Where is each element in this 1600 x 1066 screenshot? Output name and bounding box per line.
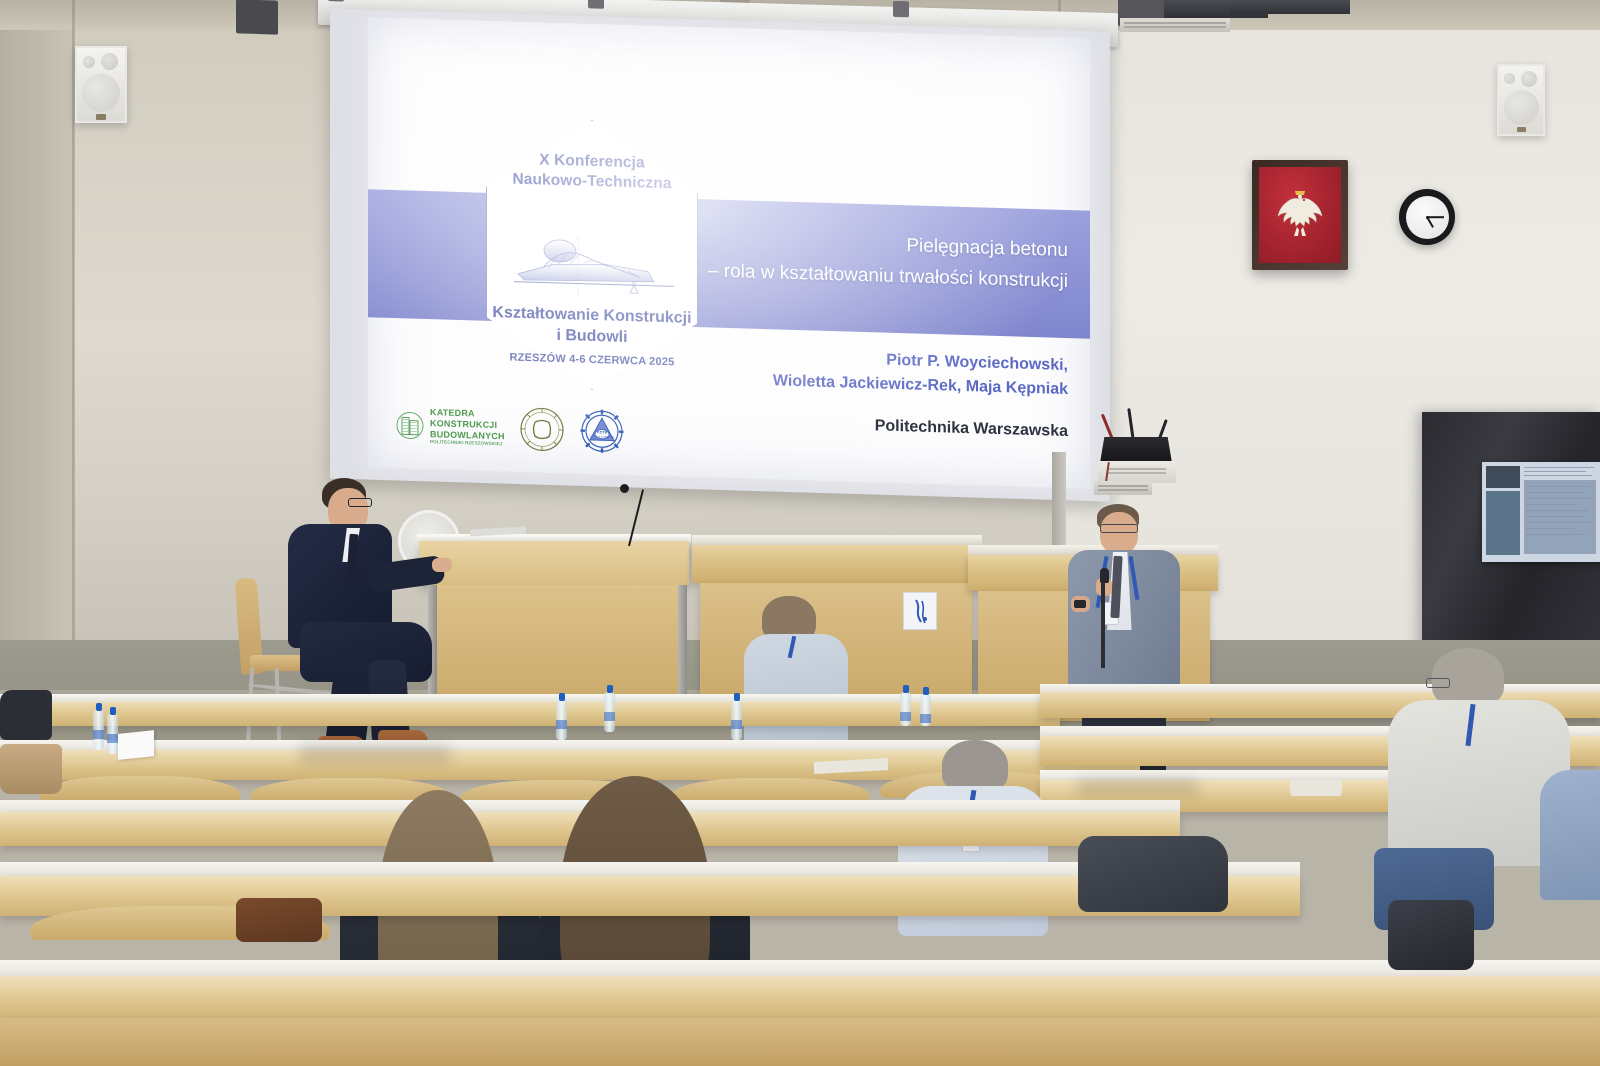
- side-counter-front: [692, 545, 982, 583]
- polish-eagle-icon: [1273, 185, 1327, 245]
- bench-desk-row-5: [0, 976, 1600, 1022]
- speaker-port-icon: [96, 114, 106, 120]
- katedra-line1: KATEDRA: [430, 408, 475, 419]
- projector-ceiling-mount: [236, 0, 278, 35]
- table-name-card: [118, 730, 154, 760]
- moderator-glasses-icon: [348, 498, 372, 507]
- microphone-handheld-icon: [1100, 568, 1109, 583]
- sponsor-logo-row: KATEDRA KONSTRUKCJI BUDOWLANYCH POLITECH…: [396, 392, 666, 466]
- emblem-background: [1259, 167, 1341, 263]
- speaker-woofer-icon: [1504, 90, 1539, 125]
- poster-text-line: [1524, 475, 1592, 476]
- accessibility-icon: [908, 597, 932, 625]
- attendee-center-hair: [942, 740, 1008, 792]
- water-bottle-4: [604, 692, 615, 732]
- presenter-glasses-icon: [1100, 524, 1138, 533]
- poster-text-line: [1526, 516, 1584, 517]
- slide-presentation-title: Pielęgnacja betonu – rola w kształtowani…: [638, 223, 1068, 297]
- microphone-head-icon: [620, 484, 629, 493]
- speaker-tweeter-icon: [83, 56, 95, 68]
- poster-text-line: [1524, 467, 1594, 468]
- microphone-cable: [1101, 582, 1105, 668]
- wall-speaker-left: [75, 46, 127, 123]
- presentation-clicker-icon: [1074, 600, 1086, 608]
- katedra-konstrukcji-budowlanych-logo: KATEDRA KONSTRUKCJI BUDOWLANYCH POLITECH…: [396, 406, 505, 446]
- bench-desk-row-6: [0, 1018, 1600, 1066]
- speaker-midrange-icon: [101, 53, 118, 70]
- presenter-head: [1100, 512, 1138, 554]
- water-bottle-2: [107, 714, 118, 754]
- wall-speaker-right: [1497, 64, 1545, 136]
- backpack-right: [1388, 900, 1474, 970]
- attendee-right-glasses-icon: [1426, 678, 1450, 688]
- poster-text-line: [1526, 486, 1590, 487]
- poster-text-line: [1526, 504, 1578, 505]
- water-bottle-6: [900, 692, 911, 726]
- poster-text-line: [1524, 471, 1586, 472]
- poster-text-line: [1526, 522, 1592, 523]
- poster-text-line: [1526, 498, 1592, 499]
- dark-backpack: [0, 690, 52, 740]
- moderator-hand: [432, 558, 452, 572]
- paper-on-desk: [1290, 780, 1342, 796]
- moderator-shadow: [300, 744, 450, 764]
- poster-text-line: [1526, 492, 1584, 493]
- speaker-port-icon: [1517, 127, 1526, 132]
- clock-face: [1406, 196, 1449, 239]
- screen-bracket-center: [588, 0, 604, 9]
- poster-text-line: [1526, 528, 1574, 529]
- router-wall-bracket: [1098, 461, 1176, 483]
- attendee-right-hair: [1432, 648, 1504, 706]
- clock-minute-hand: [1427, 216, 1444, 218]
- katedra-line4: POLITECHNIKI RZESZOWSKIEJ: [430, 439, 505, 447]
- leather-bag-foreground: [236, 898, 322, 942]
- scientific-poster: [1482, 462, 1600, 562]
- polish-eagle-emblem-frame: [1252, 160, 1348, 270]
- attendee-right-blue-shirt: [1540, 770, 1600, 900]
- pzitb-label: PZITB: [597, 430, 608, 434]
- ceiling-duct-2: [1230, 0, 1350, 14]
- slide-affiliation: Politechnika Warszawska: [638, 410, 1068, 441]
- water-bottle-3: [556, 700, 567, 740]
- pzitb-gear-logo: PZITB ODDZIAŁ RZESZÓW: [579, 408, 625, 455]
- water-bottle-1: [93, 710, 104, 750]
- poster-image-1: [1486, 466, 1520, 488]
- building-icon: [396, 410, 424, 441]
- speaker-midrange-icon: [1521, 71, 1537, 87]
- clock-center-dot: [1426, 216, 1429, 219]
- wifi-router: [1100, 437, 1172, 463]
- presentation-slide: X Konferencja Naukowo-Techniczna Kształt…: [368, 17, 1090, 488]
- wall-clock: [1399, 189, 1455, 245]
- bench-surface-row-1b: [1040, 684, 1600, 692]
- side-counter-top: [692, 535, 982, 545]
- speaker-tweeter-icon: [1504, 73, 1515, 84]
- presenter-shadow: [1078, 778, 1198, 796]
- screen-bracket-right: [893, 1, 909, 17]
- left-wall-panel: [0, 0, 74, 700]
- accessibility-logo-sign: [903, 592, 937, 630]
- podium-front-panel: [419, 541, 689, 585]
- slide-authors: Piotr P. Woyciechowski, Wioletta Jackiew…: [638, 341, 1068, 402]
- speaker-woofer-icon: [82, 74, 120, 112]
- tan-handbag: [0, 744, 62, 794]
- air-vent-ceiling: [1120, 18, 1230, 32]
- podkarpacka-izba-seal-logo: [519, 406, 565, 453]
- air-vent-wall: [1094, 481, 1152, 495]
- poster-text-line: [1526, 510, 1588, 511]
- bench-seat-row-2a: [40, 776, 240, 802]
- dark-jacket-on-desk: [1078, 836, 1228, 912]
- katedra-logo-text: KATEDRA KONSTRUKCJI BUDOWLANYCH POLITECH…: [430, 408, 505, 447]
- poster-image-2: [1486, 491, 1520, 555]
- water-bottle-7: [920, 694, 931, 726]
- lecture-hall-scene: X Konferencja Naukowo-Techniczna Kształt…: [0, 0, 1600, 1066]
- hexagon-title: X Konferencja Naukowo-Techniczna: [476, 148, 708, 196]
- poster-text-line: [1526, 534, 1586, 535]
- water-bottle-5: [731, 700, 742, 740]
- screen-bracket-left: [328, 0, 344, 2]
